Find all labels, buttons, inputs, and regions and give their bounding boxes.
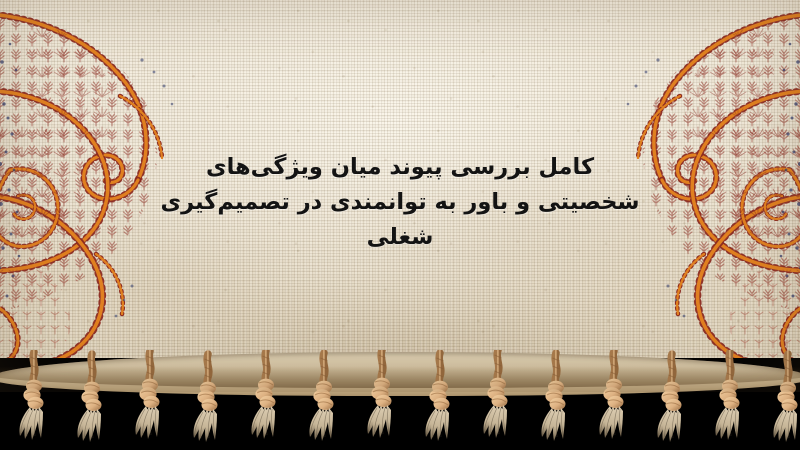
knotted-tassel-fringe bbox=[0, 350, 800, 450]
paisley-embroidery-right bbox=[508, 0, 800, 392]
paisley-embroidery-left bbox=[0, 0, 292, 392]
title-slide: کامل بررسی پیوند میان ویژگی‌های شخصیتی و… bbox=[0, 0, 800, 450]
